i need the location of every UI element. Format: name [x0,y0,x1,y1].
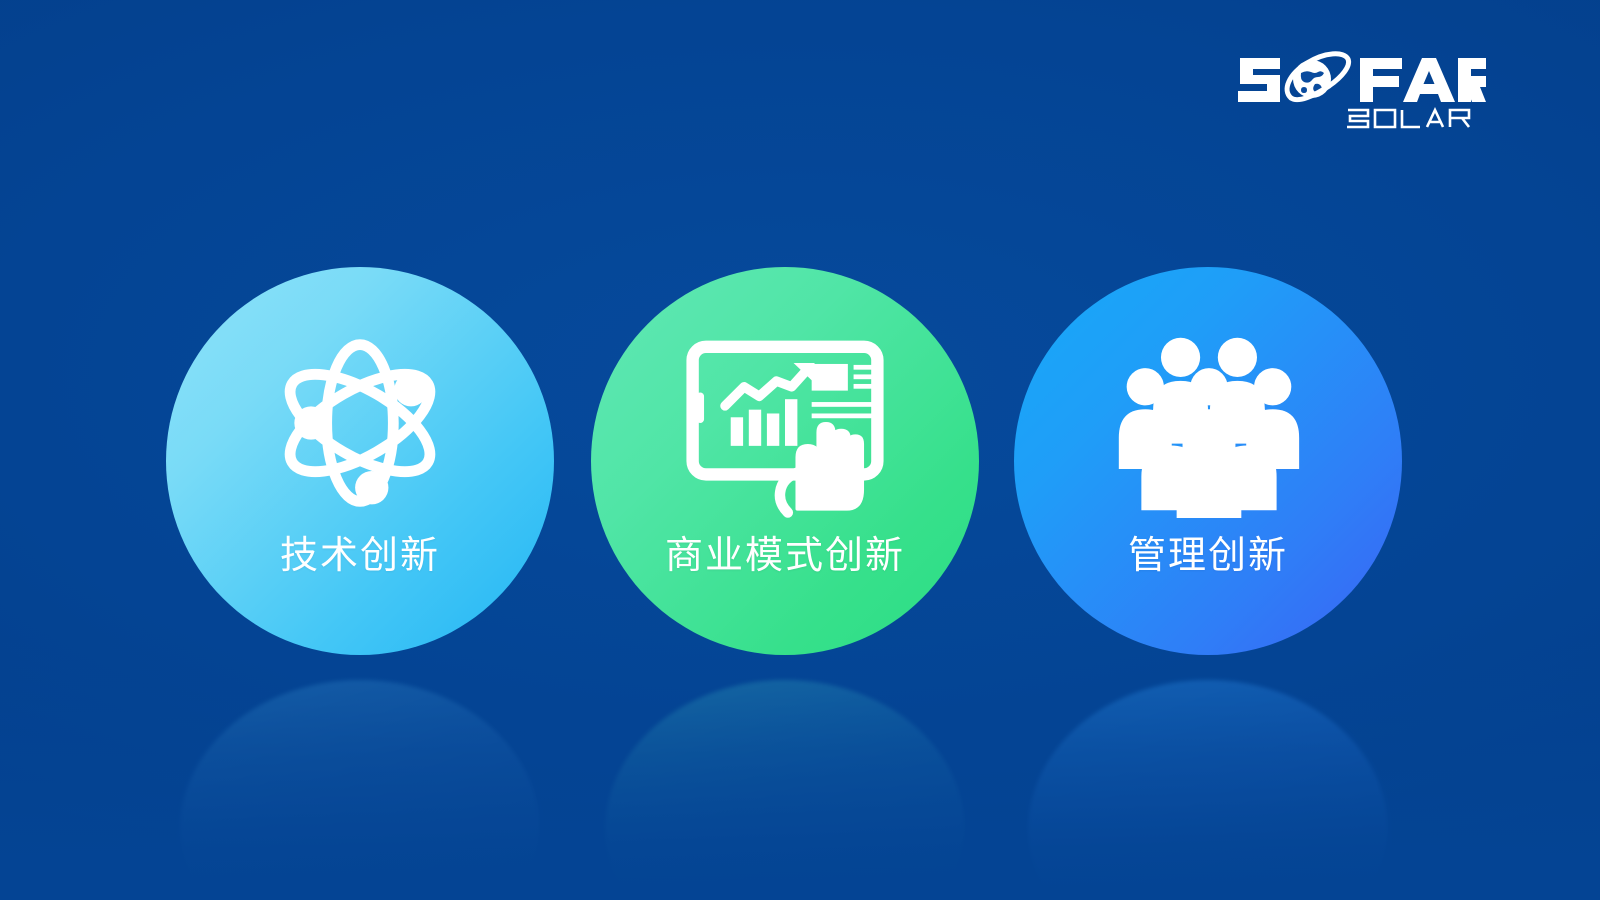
card-business-model-innovation[interactable]: 商业模式创新 [591,267,979,655]
circle-reflection-management [1028,680,1388,900]
reflection-fade-mask [0,640,1600,900]
card-management-innovation[interactable]: 管理创新 [1014,267,1402,655]
card-label-technology: 技术创新 [280,537,440,575]
atom-icon [260,323,460,523]
circle-reflection-technology [180,680,540,900]
globe-orbit-icon [1287,54,1348,100]
circle-reflection-business [605,680,965,900]
card-label-management: 管理创新 [1128,537,1288,575]
slide-canvas: 技术创新 [0,0,1600,900]
sofar-solar-logo [1236,46,1486,130]
people-group-icon [1108,323,1308,523]
tablet-chart-touch-icon [685,323,885,523]
card-label-business: 商业模式创新 [665,537,905,575]
card-technology-innovation[interactable]: 技术创新 [166,267,554,655]
